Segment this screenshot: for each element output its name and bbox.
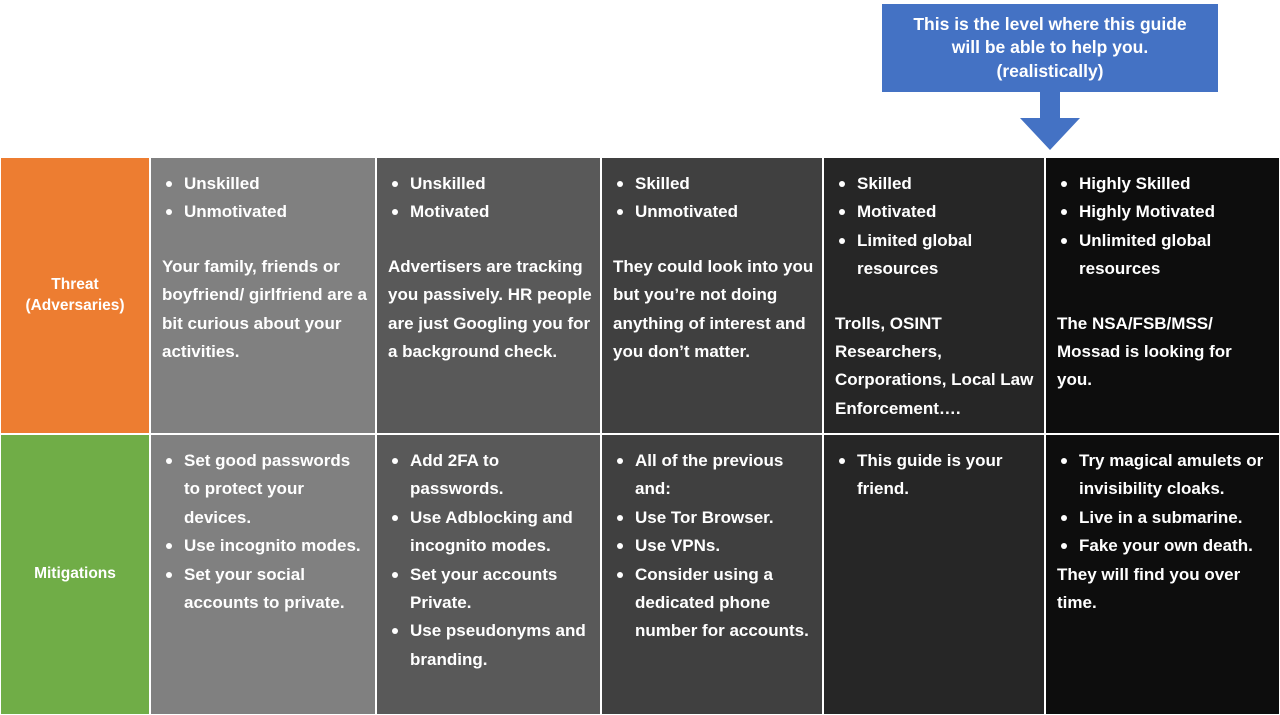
threat-bullets-level-3: Skilled Unmotivated xyxy=(608,170,814,227)
list-item: Use Tor Browser. xyxy=(608,504,814,532)
list-item: Motivated xyxy=(830,198,1036,226)
list-item: Motivated xyxy=(383,198,592,226)
list-item: Live in a submarine. xyxy=(1052,504,1271,532)
threat-paragraph-level-2: Advertisers are tracking you passively. … xyxy=(383,253,592,367)
mitigation-bullets-level-1: Set good passwords to protect your devic… xyxy=(157,447,367,617)
mitigation-cell-level-3: All of the previous and: Use Tor Browser… xyxy=(601,434,823,715)
list-item: Use VPNs. xyxy=(608,532,814,560)
list-item: Skilled xyxy=(608,170,814,198)
list-item: Try magical amulets or invisibility cloa… xyxy=(1052,447,1271,504)
list-item: Skilled xyxy=(830,170,1036,198)
mitigation-bullets-level-4: This guide is your friend. xyxy=(830,447,1036,504)
list-item: Use Adblocking and incognito modes. xyxy=(383,504,592,561)
threat-paragraph-level-5: The NSA/FSB/MSS/ Mossad is looking for y… xyxy=(1052,310,1271,395)
list-item: Fake your own death. xyxy=(1052,532,1271,560)
list-item: Set good passwords to protect your devic… xyxy=(157,447,367,532)
list-item: Highly Motivated xyxy=(1052,198,1271,226)
row-header-threat: Threat (Adversaries) xyxy=(0,157,150,434)
down-arrow-icon xyxy=(1012,90,1088,152)
threat-paragraph-level-3: They could look into you but you’re not … xyxy=(608,253,814,367)
threat-cell-level-5: Highly Skilled Highly Motivated Unlimite… xyxy=(1045,157,1280,434)
threat-cell-level-4: Skilled Motivated Limited global resourc… xyxy=(823,157,1045,434)
list-item: Unskilled xyxy=(157,170,367,198)
mitigation-bullets-level-5: Try magical amulets or invisibility cloa… xyxy=(1052,447,1271,561)
mitigation-bullets-level-2: Add 2FA to passwords. Use Adblocking and… xyxy=(383,447,592,674)
threat-paragraph-level-4: Trolls, OSINT Researchers, Corporations,… xyxy=(830,310,1036,424)
list-item: Set your social accounts to private. xyxy=(157,561,367,618)
row-header-mitigations: Mitigations xyxy=(0,434,150,715)
list-item: Limited global resources xyxy=(830,227,1036,284)
matrix-grid: Threat (Adversaries) Unskilled Unmotivat… xyxy=(0,157,1280,715)
threat-cell-level-1: Unskilled Unmotivated Your family, frien… xyxy=(150,157,376,434)
mitigation-cell-level-5: Try magical amulets or invisibility cloa… xyxy=(1045,434,1280,715)
mitigation-paragraph-level-5: They will find you over time. xyxy=(1052,561,1271,618)
list-item: Unskilled xyxy=(383,170,592,198)
list-item: Use incognito modes. xyxy=(157,532,367,560)
list-item: Highly Skilled xyxy=(1052,170,1271,198)
mitigation-cell-level-4: This guide is your friend. xyxy=(823,434,1045,715)
threat-bullets-level-4: Skilled Motivated Limited global resourc… xyxy=(830,170,1036,284)
list-item: Consider using a dedicated phone number … xyxy=(608,561,814,646)
threat-bullets-level-1: Unskilled Unmotivated xyxy=(157,170,367,227)
threat-bullets-level-5: Highly Skilled Highly Motivated Unlimite… xyxy=(1052,170,1271,284)
threat-model-matrix-diagram: This is the level where this guide will … xyxy=(0,0,1280,715)
list-item: Add 2FA to passwords. xyxy=(383,447,592,504)
threat-paragraph-level-1: Your family, friends or boyfriend/ girlf… xyxy=(157,253,367,367)
list-item: This guide is your friend. xyxy=(830,447,1036,504)
list-item: Unmotivated xyxy=(157,198,367,226)
mitigation-bullets-level-3: All of the previous and: Use Tor Browser… xyxy=(608,447,814,646)
list-item: Unlimited global resources xyxy=(1052,227,1271,284)
threat-cell-level-3: Skilled Unmotivated They could look into… xyxy=(601,157,823,434)
list-item: Set your accounts Private. xyxy=(383,561,592,618)
threat-bullets-level-2: Unskilled Motivated xyxy=(383,170,592,227)
list-item: Unmotivated xyxy=(608,198,814,226)
list-item: Use pseudonyms and branding. xyxy=(383,617,592,674)
mitigation-cell-level-1: Set good passwords to protect your devic… xyxy=(150,434,376,715)
list-item: All of the previous and: xyxy=(608,447,814,504)
mitigation-cell-level-2: Add 2FA to passwords. Use Adblocking and… xyxy=(376,434,601,715)
callout-text: This is the level where this guide will … xyxy=(913,13,1186,83)
callout-box: This is the level where this guide will … xyxy=(882,4,1218,92)
threat-cell-level-2: Unskilled Motivated Advertisers are trac… xyxy=(376,157,601,434)
